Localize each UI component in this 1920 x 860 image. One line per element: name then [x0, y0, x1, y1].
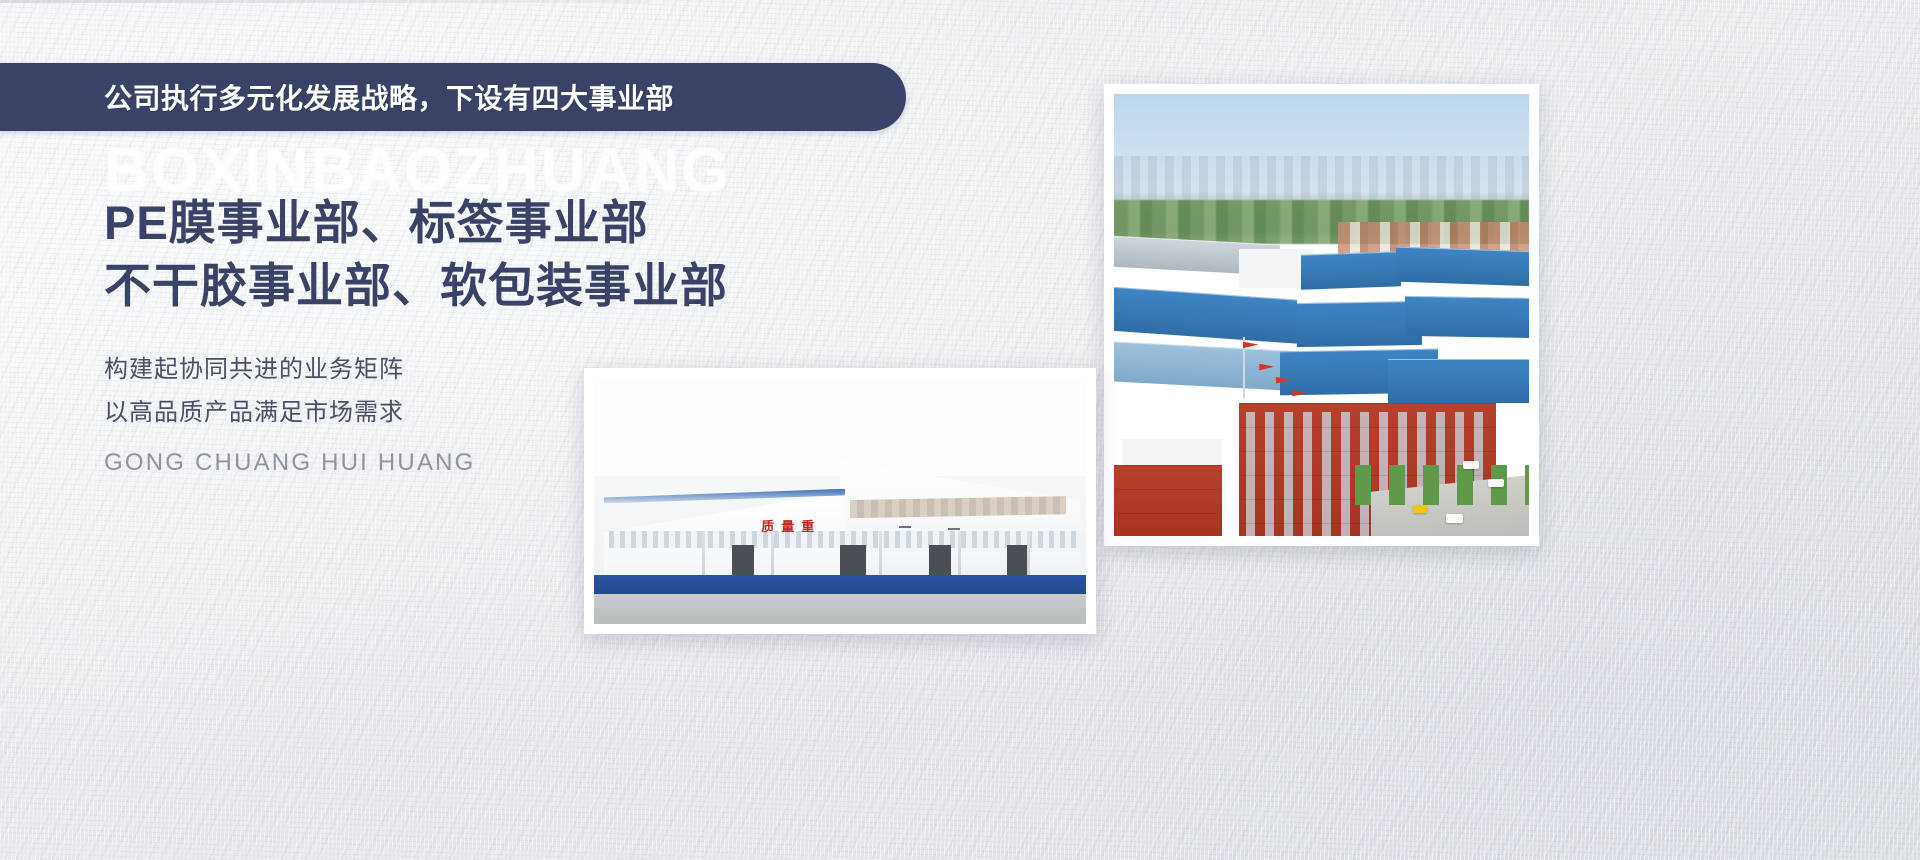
photo-plant-exterior: 质量重	[584, 368, 1096, 634]
headline-line-2: 不干胶事业部、软包装事业部	[104, 253, 924, 320]
photo-aerial-factory	[1104, 84, 1539, 546]
car-2	[1488, 479, 1504, 487]
headline-ribbon: 公司执行多元化发展战略，下设有四大事业部	[0, 63, 906, 131]
roof-blue-g	[1388, 359, 1529, 403]
security-camera-1	[899, 526, 911, 528]
car-1	[1463, 461, 1479, 469]
hero-banner-stage: 公司执行多元化发展战略，下设有四大事业部 BOXINBAOZHUANG PE膜事…	[0, 0, 1920, 860]
red-building-left	[1114, 465, 1222, 536]
photo-plant-inner: 质量重	[594, 378, 1086, 624]
aerial-scene	[1114, 94, 1529, 536]
car-4	[1446, 514, 1463, 523]
roof-blue-e	[1405, 296, 1530, 338]
floor-lines-left	[1114, 465, 1222, 536]
plant-ground	[594, 594, 1086, 624]
plant-scene: 质量重	[594, 378, 1086, 624]
roof-blue-a	[1301, 251, 1401, 290]
photo-aerial-inner	[1114, 94, 1529, 536]
ribbon-text: 公司执行多元化发展战略，下设有四大事业部	[104, 77, 674, 117]
car-3	[1413, 505, 1427, 513]
top-edge-seam	[0, 0, 650, 3]
roof-blue-d	[1297, 301, 1422, 347]
headline-line-1: PE膜事业部、标签事业部	[104, 190, 924, 257]
roof-blue-b	[1396, 246, 1529, 286]
roof-blue-c	[1114, 286, 1297, 344]
